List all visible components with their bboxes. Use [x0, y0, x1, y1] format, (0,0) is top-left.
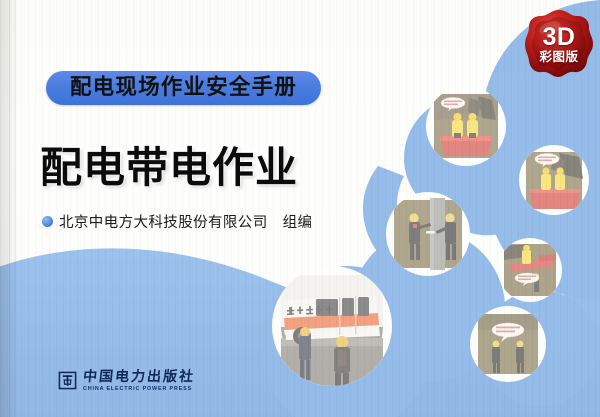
photo-bubble-1 — [426, 86, 506, 166]
spine-streak — [15, 0, 16, 417]
author-line: 北京中电方大科技股份有限公司 组编 — [42, 211, 312, 232]
spine-shadow — [0, 0, 26, 417]
badge-text-group: 3D 彩图版 — [523, 8, 595, 80]
cover-artwork — [0, 0, 600, 417]
author-organization: 北京中电方大科技股份有限公司 — [59, 211, 268, 232]
publisher-name-en: CHINA ELECTRIC POWER PRESS — [83, 387, 195, 392]
book-cover: 配电现场作业安全手册 配电带电作业 北京中电方大科技股份有限公司 组编 3D 彩… — [0, 0, 600, 417]
photo-bubble-5 — [470, 306, 546, 382]
photo-bubble-2 — [519, 145, 589, 215]
3d-color-edition-badge: 3D 彩图版 — [523, 8, 595, 80]
publisher-block: 中国电力出版社 CHINA ELECTRIC POWER PRESS — [58, 370, 195, 392]
photo-bubble-4 — [498, 238, 562, 302]
spine-streak — [9, 0, 10, 417]
author-role: 组编 — [283, 211, 313, 232]
badge-sublabel: 彩图版 — [539, 51, 578, 64]
series-title-banner: 配电现场作业安全手册 — [46, 71, 321, 105]
series-title-text: 配电现场作业安全手册 — [70, 77, 297, 99]
badge-label: 3D — [543, 25, 576, 50]
photo-bubble-3 — [386, 192, 470, 276]
publisher-name-cn: 中国电力出版社 — [82, 370, 195, 384]
main-title-text: 配电带电作业 — [40, 142, 360, 194]
main-title: 配电带电作业 — [40, 142, 360, 194]
publisher-logo-icon — [58, 371, 77, 390]
bullet-icon — [42, 216, 53, 227]
publisher-text: 中国电力出版社 CHINA ELECTRIC POWER PRESS — [83, 370, 195, 392]
